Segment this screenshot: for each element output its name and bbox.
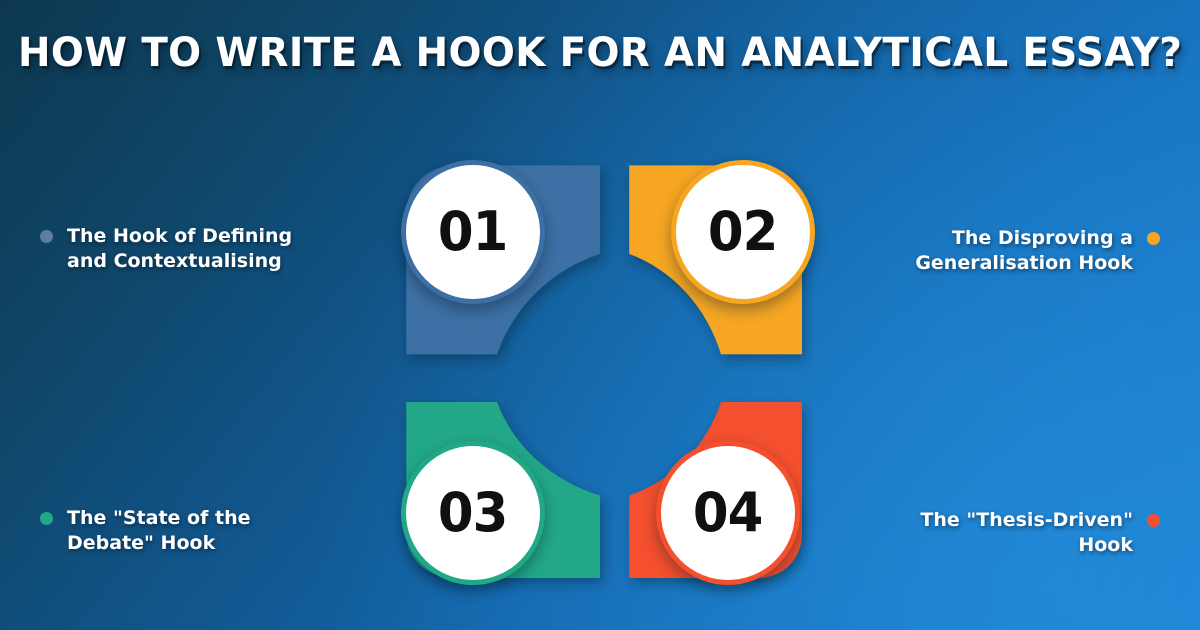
- bullet-dot-icon: [1147, 232, 1160, 245]
- legend-item-04-label: The "Thesis-Driven" Hook: [895, 508, 1133, 558]
- bullet-dot-icon: [40, 230, 53, 243]
- legend-item-01-label: The Hook of Defining and Contextualising: [67, 224, 305, 274]
- legend-item-02[interactable]: The Disproving a Generalisation Hook: [895, 226, 1160, 276]
- legend-item-02-label: The Disproving a Generalisation Hook: [895, 226, 1133, 276]
- page-title: HOW TO WRITE A HOOK FOR AN ANALYTICAL ES…: [18, 32, 1182, 74]
- legend-item-03-label: The "State of the Debate" Hook: [67, 506, 305, 556]
- segment-number-04[interactable]: 04: [656, 441, 800, 585]
- segment-number-02-text: 02: [708, 205, 777, 259]
- legend-item-01[interactable]: The Hook of Defining and Contextualising: [40, 224, 305, 274]
- legend-item-04[interactable]: The "Thesis-Driven" Hook: [895, 508, 1160, 558]
- segment-number-02[interactable]: 02: [671, 160, 815, 304]
- segment-number-03-text: 03: [438, 486, 507, 540]
- segment-number-04-text: 04: [693, 486, 762, 540]
- bullet-dot-icon: [40, 512, 53, 525]
- bullet-dot-icon: [1147, 514, 1160, 527]
- legend-item-03[interactable]: The "State of the Debate" Hook: [40, 506, 305, 556]
- segment-number-01-text: 01: [438, 205, 507, 259]
- segment-number-01[interactable]: 01: [401, 160, 545, 304]
- segment-number-03[interactable]: 03: [401, 441, 545, 585]
- infographic-canvas: HOW TO WRITE A HOOK FOR AN ANALYTICAL ES…: [0, 0, 1200, 630]
